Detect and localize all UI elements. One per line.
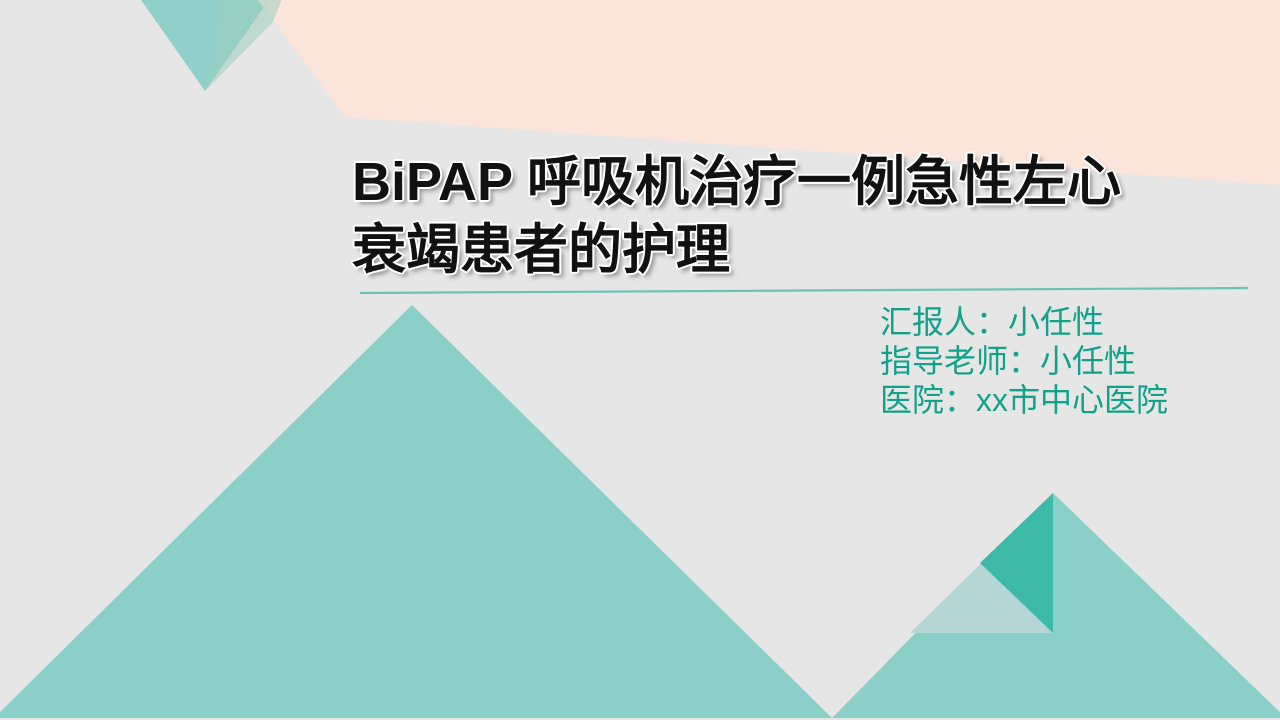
presenter-line: 汇报人：小任性 xyxy=(880,303,1270,342)
title-slide: BiPAP 呼吸机治疗一例急性左心 衰竭患者的护理 汇报人：小任性 指导老师：小… xyxy=(0,0,1280,720)
title-block: BiPAP 呼吸机治疗一例急性左心 衰竭患者的护理 xyxy=(352,148,1232,284)
hospital-line: 医院：xx市中心医院 xyxy=(880,381,1270,420)
byline-block: 汇报人：小任性 指导老师：小任性 医院：xx市中心医院 xyxy=(880,303,1270,420)
slide-title: BiPAP 呼吸机治疗一例急性左心 衰竭患者的护理 xyxy=(352,148,1232,284)
advisor-line: 指导老师：小任性 xyxy=(880,342,1270,381)
